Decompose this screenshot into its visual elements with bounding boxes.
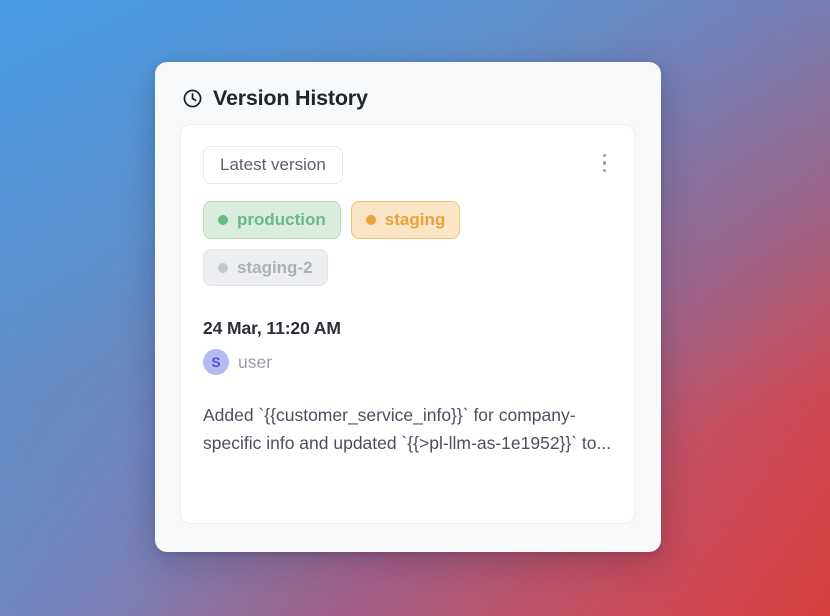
env-tag-label: staging — [385, 210, 445, 230]
kebab-dot — [603, 161, 607, 165]
env-tag-label: production — [237, 210, 326, 230]
kebab-dot — [603, 169, 607, 173]
env-tag-staging-2[interactable]: staging-2 — [203, 249, 328, 287]
panel-header: Version History — [182, 88, 636, 110]
author-name: user — [238, 352, 272, 373]
environment-tag-list: production staging staging-2 — [203, 201, 503, 286]
card-top-row: Latest version — [203, 146, 612, 185]
version-description: Added `{{customer_service_info}}` for co… — [203, 401, 615, 457]
status-dot-icon — [366, 215, 376, 225]
env-tag-production[interactable]: production — [203, 201, 341, 239]
kebab-menu-icon[interactable] — [597, 146, 613, 173]
kebab-dot — [603, 154, 607, 158]
clock-icon — [182, 88, 203, 109]
status-dot-icon — [218, 263, 228, 273]
author-row: S user — [203, 349, 612, 375]
status-dot-icon — [218, 215, 228, 225]
version-timestamp: 24 Mar, 11:20 AM — [203, 318, 612, 339]
avatar: S — [203, 349, 229, 375]
page-title: Version History — [213, 88, 368, 110]
latest-version-badge[interactable]: Latest version — [203, 146, 343, 185]
version-history-panel: Version History Latest version productio… — [155, 62, 661, 552]
env-tag-staging[interactable]: staging — [351, 201, 460, 239]
version-entry-card: Latest version production staging stagin… — [180, 124, 635, 524]
env-tag-label: staging-2 — [237, 258, 313, 278]
